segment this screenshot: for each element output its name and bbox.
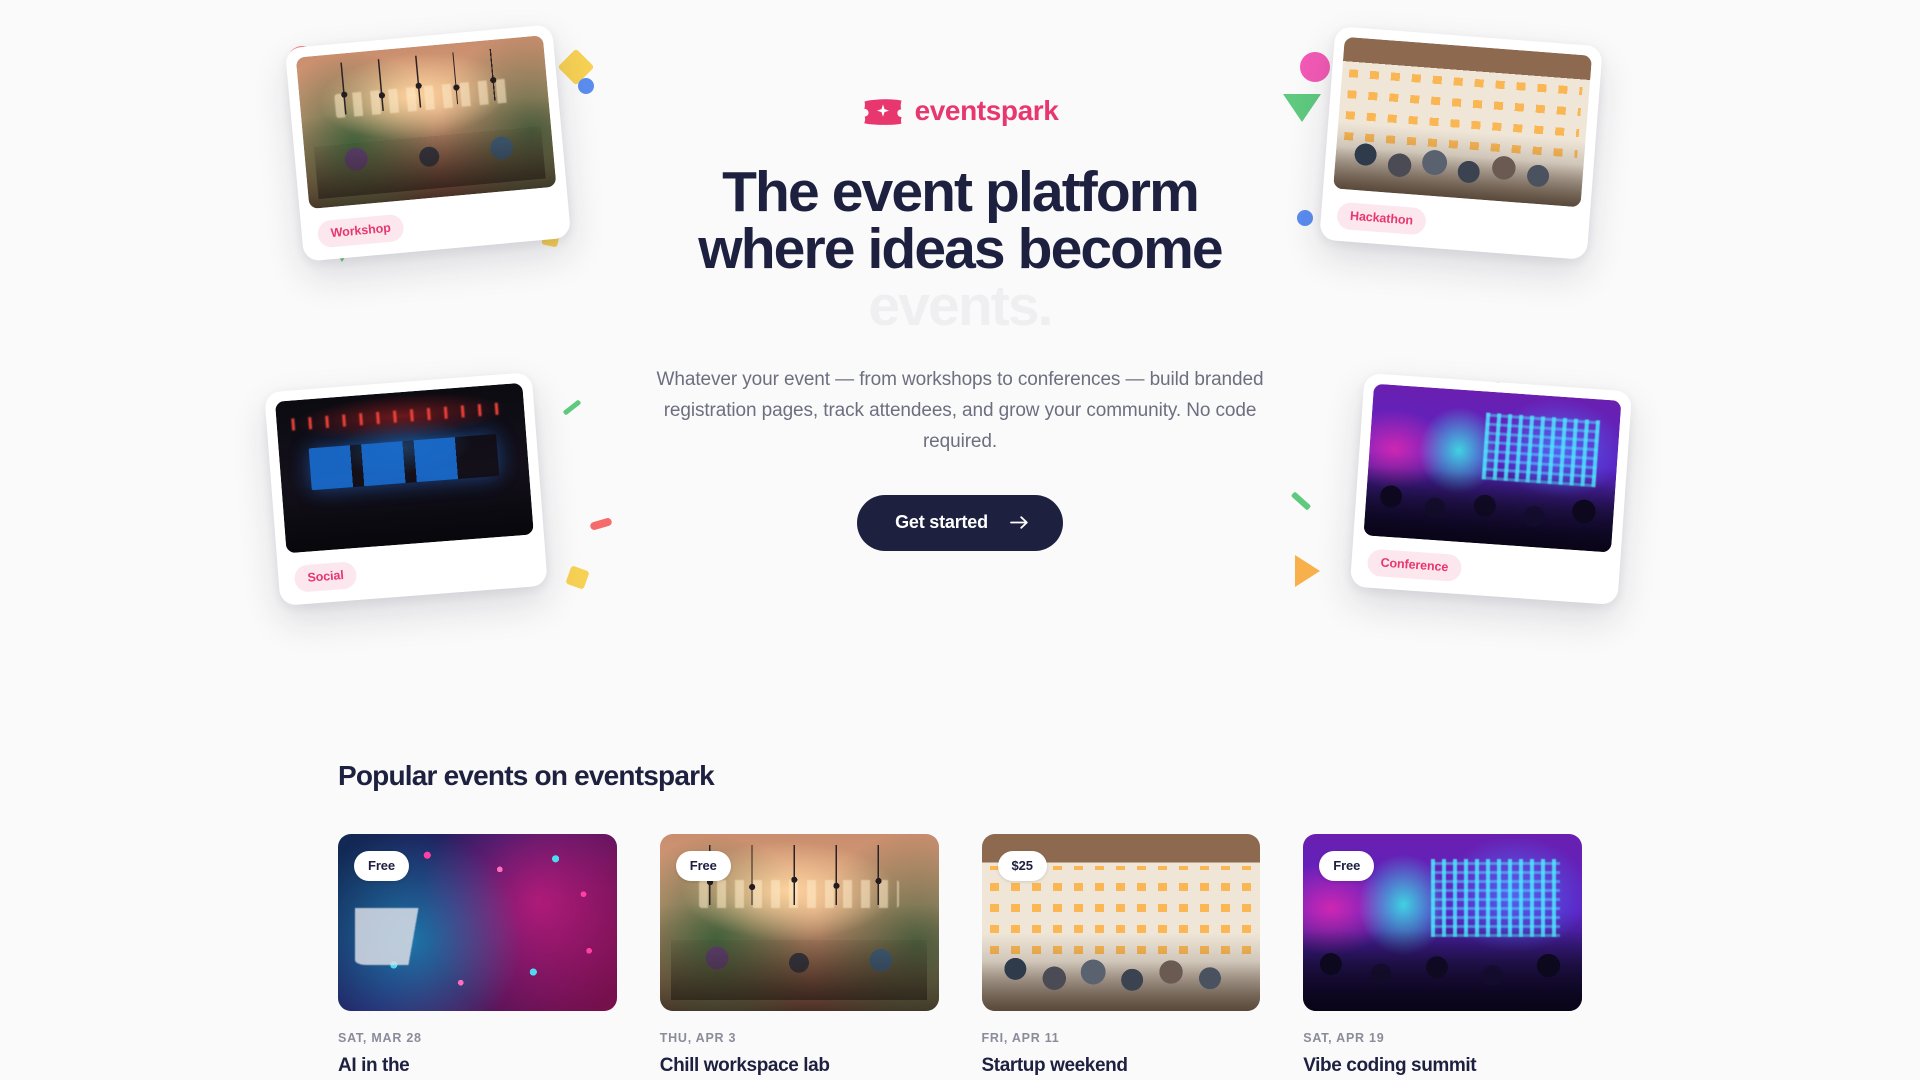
event-card[interactable]: Free THU, APR 3 Chill workspace lab [660, 834, 939, 1079]
floating-card-photo [296, 35, 557, 209]
ticket-sparkle-icon [862, 96, 904, 126]
floating-card-hackathon[interactable]: Hackathon [1319, 26, 1603, 260]
event-date: THU, APR 3 [660, 1031, 939, 1045]
brand-logo[interactable]: eventspark [640, 96, 1280, 126]
headline-line-3: events. [640, 278, 1280, 335]
cta-container: Get started [640, 495, 1280, 551]
confetti-chevron-green-right [1291, 491, 1311, 510]
confetti-chevron-green-left [563, 399, 582, 415]
floating-card-photo [1333, 37, 1592, 208]
event-photo: $25 [982, 834, 1261, 1011]
events-grid: Free SAT, MAR 28 AI in the Free THU, APR… [338, 834, 1582, 1079]
event-photo: Free [338, 834, 617, 1011]
category-tag: Social [294, 561, 358, 593]
headline-line-1: The event platform [640, 164, 1280, 221]
headline-line-2: where ideas become [640, 221, 1280, 278]
get-started-button[interactable]: Get started [857, 495, 1063, 551]
event-title: Chill workspace lab [660, 1054, 939, 1079]
section-title: Popular events on eventspark [338, 760, 1582, 792]
event-date: FRI, APR 11 [982, 1031, 1261, 1045]
hero-section: Workshop Hackathon Social [0, 0, 1920, 700]
price-badge: Free [676, 851, 731, 881]
event-card[interactable]: $25 FRI, APR 11 Startup weekend [982, 834, 1261, 1079]
hero-content: eventspark The event platform where idea… [640, 96, 1280, 551]
floating-card-workshop[interactable]: Workshop [285, 24, 571, 261]
arrow-right-icon [1010, 515, 1029, 530]
category-tag: Workshop [317, 213, 405, 248]
event-photo: Free [660, 834, 939, 1011]
confetti-circle-blue-right [1297, 210, 1313, 226]
price-badge: Free [354, 851, 409, 881]
confetti-triangle-green-right [1283, 94, 1321, 122]
confetti-bar-red [589, 517, 612, 531]
event-title: Vibe coding summit [1303, 1054, 1582, 1079]
floating-card-photo [1363, 384, 1621, 553]
page-title: The event platform where ideas become ev… [640, 164, 1280, 335]
get-started-label: Get started [895, 512, 988, 533]
event-card[interactable]: Free SAT, MAR 28 AI in the [338, 834, 617, 1079]
price-badge: Free [1319, 851, 1374, 881]
event-card[interactable]: Free SAT, APR 19 Vibe coding summit [1303, 834, 1582, 1079]
event-title: Startup weekend [982, 1054, 1261, 1079]
floating-card-conference[interactable]: Conference [1350, 373, 1632, 605]
event-photo: Free [1303, 834, 1582, 1011]
event-date: SAT, APR 19 [1303, 1031, 1582, 1045]
floating-card-photo [275, 383, 534, 554]
event-title: AI in the [338, 1054, 617, 1079]
confetti-circle-pink-right [1300, 52, 1330, 82]
category-tag: Hackathon [1336, 201, 1427, 235]
brand-name: eventspark [915, 97, 1059, 125]
popular-events-section: Popular events on eventspark Free SAT, M… [0, 760, 1920, 1079]
price-badge: $25 [998, 851, 1047, 881]
category-tag: Conference [1367, 548, 1462, 581]
floating-card-social[interactable]: Social [264, 372, 548, 606]
confetti-square-yellow-social [565, 565, 589, 589]
hero-subtitle: Whatever your event — from workshops to … [640, 365, 1280, 457]
landing-page: Workshop Hackathon Social [0, 0, 1920, 1080]
confetti-circle-blue [578, 78, 594, 94]
confetti-triangle-orange-right [1295, 555, 1320, 587]
event-date: SAT, MAR 28 [338, 1031, 617, 1045]
